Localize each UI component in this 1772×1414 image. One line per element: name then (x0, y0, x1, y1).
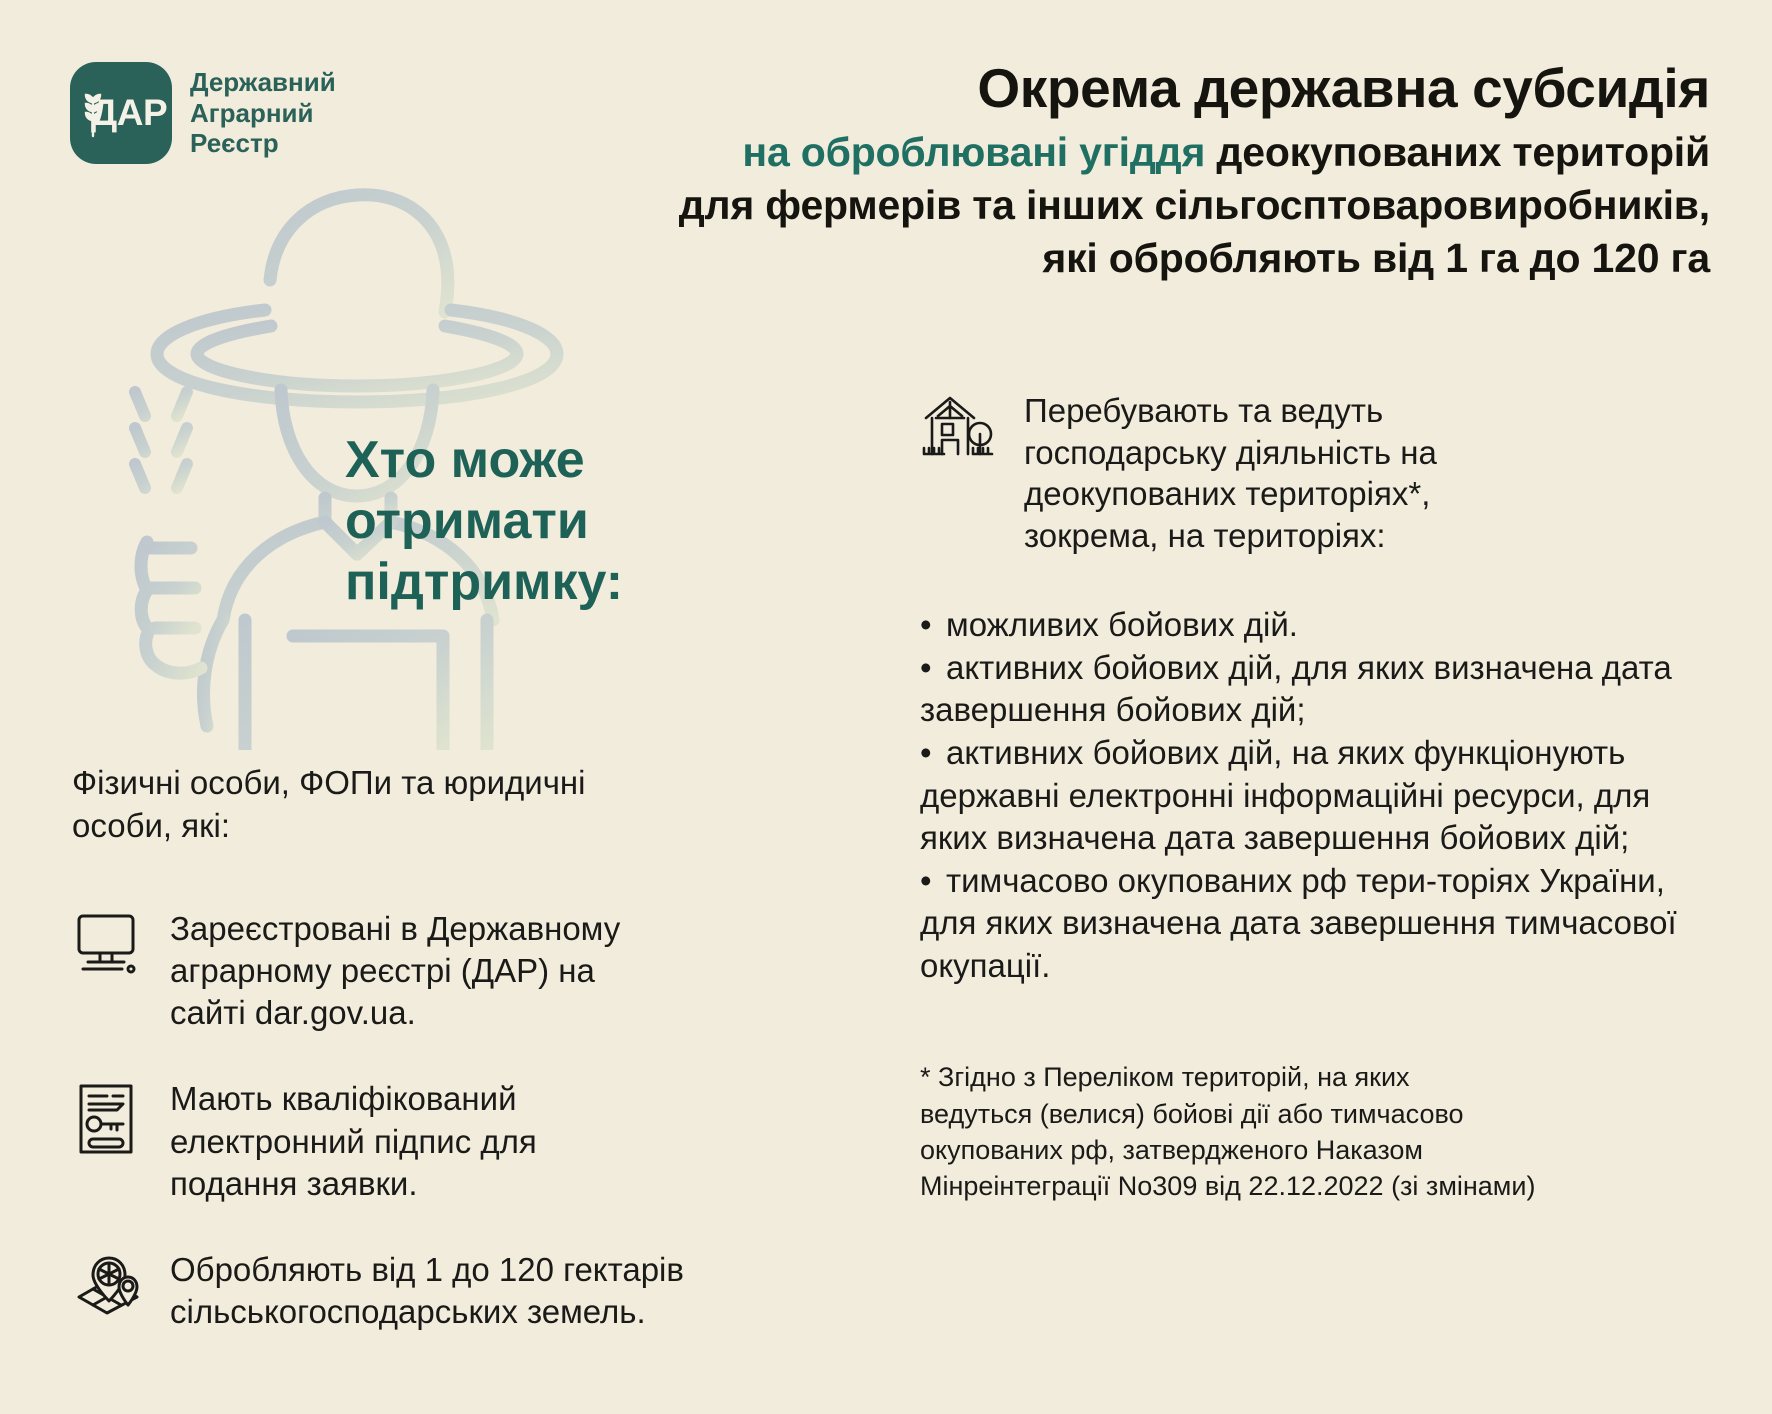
list-item: •можливих бойових дій. (920, 604, 1720, 647)
logo-full-name: Державний Аграрний Реєстр (190, 67, 336, 158)
farmhouse-icon (920, 390, 998, 470)
eligibility-item: Зареєстровані в Державному аграрному реє… (72, 906, 812, 1035)
eligibility-item-text: Зареєстровані в Державному аграрному реє… (170, 906, 620, 1035)
who-can-get-support-heading: Хто може отримати підтримку: (345, 430, 765, 612)
eligibility-intro: Фізичні особи, ФОПи та юридичні особи, я… (72, 762, 812, 848)
bullet-marker: • (920, 860, 946, 903)
bullet-marker: • (920, 604, 946, 647)
bullet-marker: • (920, 732, 946, 775)
list-item: •активних бойових дій, на яких функціону… (920, 732, 1720, 860)
header-subtitle: на оброблювані угіддя деокупованих терит… (470, 126, 1710, 179)
header-line-4: які обробляють від 1 га до 120 га (470, 232, 1710, 285)
poster-header: Окрема державна субсидія на оброблювані … (470, 58, 1710, 285)
eligibility-item-text: Обробляють від 1 до 120 гектарів сільськ… (170, 1247, 684, 1333)
right-column: Перебувають та ведуть господарську діяль… (920, 390, 1720, 1204)
header-title: Окрема державна субсидія (470, 58, 1710, 120)
list-item-text: можливих бойових дій. (946, 606, 1298, 643)
map-pins-icon (72, 1247, 144, 1329)
infographic-poster: ДАР Державний Аграрний Реєстр Окрема дер… (0, 0, 1772, 1414)
eligibility-item-text: Мають кваліфікований електронний підпис … (170, 1076, 537, 1205)
monitor-icon (72, 906, 144, 988)
header-subtitle-rest: деокупованих територій (1205, 129, 1710, 175)
list-item-text: активних бойових дій, для яких визначена… (920, 649, 1672, 729)
logo-mark: ДАР (70, 62, 172, 164)
territory-requirement: Перебувають та ведуть господарську діяль… (920, 390, 1720, 556)
left-column: Фізичні особи, ФОПи та юридичні особи, я… (72, 762, 812, 1376)
list-item-text: тимчасово окупованих рф тери-торіях Укра… (920, 862, 1677, 984)
list-item-text: активних бойових дій, на яких функціоную… (920, 734, 1650, 856)
header-line-3: для фермерів та інших сільгосптоваровиро… (470, 179, 1710, 232)
header-subtitle-accent: на оброблювані угіддя (742, 129, 1205, 175)
list-item: •активних бойових дій, для яких визначен… (920, 647, 1720, 732)
list-item: •тимчасово окупованих рф тери-торіях Укр… (920, 860, 1720, 988)
territory-requirement-text: Перебувають та ведуть господарську діяль… (1024, 390, 1437, 556)
eligibility-item: Мають кваліфікований електронний підпис … (72, 1076, 812, 1205)
territory-bullet-list: •можливих бойових дій. •активних бойових… (920, 604, 1720, 987)
footnote: * Згідно з Переліком територій, на яких … (920, 1059, 1720, 1204)
bullet-marker: • (920, 647, 946, 690)
eligibility-item: Обробляють від 1 до 120 гектарів сільськ… (72, 1247, 812, 1333)
dar-logo: ДАР Державний Аграрний Реєстр (70, 62, 336, 164)
document-key-icon (72, 1076, 144, 1158)
wheat-icon (83, 90, 103, 143)
